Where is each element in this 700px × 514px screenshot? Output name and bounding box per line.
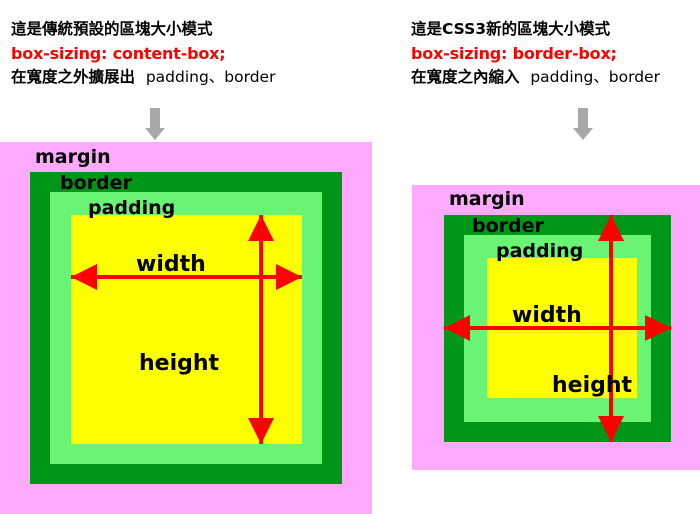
measure-arrowhead-bottom <box>248 418 274 444</box>
right-caption-line-3-latin: padding、border <box>530 68 660 86</box>
right-caption-code: box-sizing: border-box; <box>411 42 660 66</box>
height-measure-arrow <box>248 215 274 444</box>
left-caption-code: box-sizing: content-box; <box>11 42 275 66</box>
content-box-diagram: margin border padding width height <box>0 142 372 514</box>
width-label: width <box>136 254 206 276</box>
measure-arrowhead-left <box>444 315 470 341</box>
arrow-down-icon <box>145 108 165 140</box>
left-caption-line-1: 這是傳統預設的區塊大小模式 <box>11 18 275 42</box>
measure-arrowhead-right <box>276 264 302 290</box>
measure-arrowhead-top <box>598 215 624 241</box>
border-box-diagram: margin border padding width height <box>412 185 700 470</box>
margin-label: margin <box>449 190 525 209</box>
arrow-down-icon <box>573 108 593 140</box>
border-label: border <box>60 174 132 193</box>
measure-arrowhead-bottom <box>598 416 624 442</box>
arrow-shaft <box>150 108 160 128</box>
arrow-head <box>573 128 593 140</box>
margin-label: margin <box>35 148 111 167</box>
width-label: width <box>512 305 582 327</box>
measure-arrowhead-right <box>645 315 671 341</box>
height-label: height <box>552 375 632 397</box>
right-caption-line-3: 在寬度之內縮入 padding、border <box>411 66 660 90</box>
left-caption-line-3: 在寬度之外擴展出 padding、border <box>11 66 275 90</box>
right-caption-line-1: 這是CSS3新的區塊大小模式 <box>411 18 660 42</box>
right-caption-line-3-cjk: 在寬度之內縮入 <box>411 68 520 86</box>
arrow-shaft <box>578 108 588 128</box>
measure-bar <box>609 215 613 442</box>
padding-label: padding <box>496 242 583 261</box>
left-caption-line-3-cjk: 在寬度之外擴展出 <box>11 68 135 86</box>
left-caption-line-3-latin: padding、border <box>146 68 276 86</box>
padding-label: padding <box>88 199 175 218</box>
measure-arrowhead-top <box>248 215 274 241</box>
measure-bar <box>259 215 263 444</box>
arrow-head <box>145 128 165 140</box>
right-caption: 這是CSS3新的區塊大小模式 box-sizing: border-box; 在… <box>411 18 660 89</box>
measure-arrowhead-left <box>71 264 97 290</box>
border-label: border <box>472 217 544 236</box>
height-measure-arrow <box>598 215 624 442</box>
height-label: height <box>139 353 219 375</box>
left-caption: 這是傳統預設的區塊大小模式 box-sizing: content-box; 在… <box>11 18 275 89</box>
